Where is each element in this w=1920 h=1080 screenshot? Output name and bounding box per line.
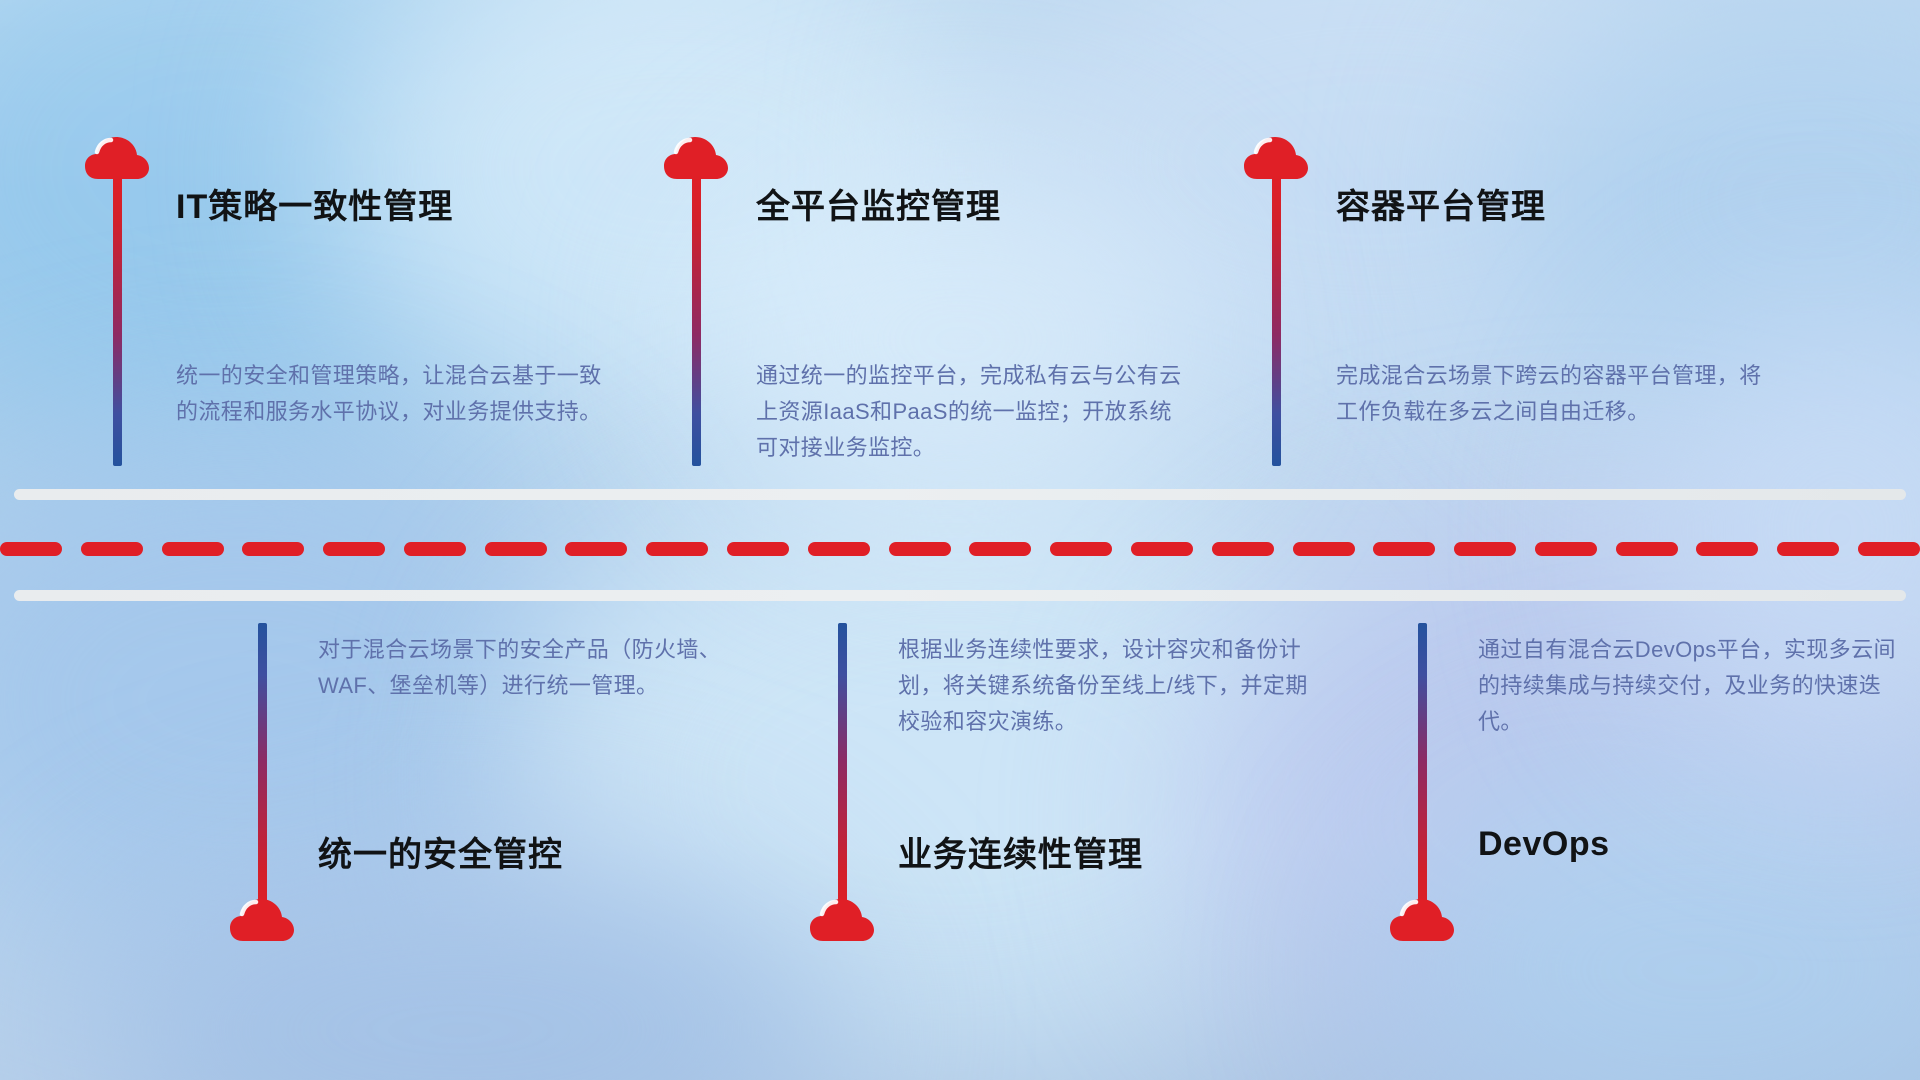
divider-dash [1777, 542, 1839, 556]
divider-dash [242, 542, 304, 556]
feature-description: 通过自有混合云DevOps平台，实现多云间的持续集成与持续交付，及业务的快速迭代… [1478, 632, 1908, 740]
stalk-line [258, 623, 267, 913]
divider-dash [1050, 542, 1112, 556]
stalk-line [1272, 174, 1281, 466]
divider-dash [646, 542, 708, 556]
stalk-line [692, 174, 701, 466]
divider-rule-top [14, 489, 1906, 500]
feature-description: 根据业务连续性要求，设计容灾和备份计划，将关键系统备份至线上/线下，并定期校验和… [898, 632, 1328, 740]
feature-title: 统一的安全管控 [318, 827, 563, 876]
feature-description: 对于混合云场景下的安全产品（防火墙、WAF、堡垒机等）进行统一管理。 [318, 632, 748, 704]
divider-dash [565, 542, 627, 556]
divider-dash [808, 542, 870, 556]
feature-description: 完成混合云场景下跨云的容器平台管理，将工作负载在多云之间自由迁移。 [1336, 358, 1766, 430]
divider-dash [727, 542, 789, 556]
divider-dash [1696, 542, 1758, 556]
stalk-line [113, 174, 122, 466]
divider-dash [1373, 542, 1435, 556]
feature-title: 业务连续性管理 [898, 827, 1143, 876]
divider-dash [81, 542, 143, 556]
divider-dash [404, 542, 466, 556]
divider-dash [1293, 542, 1355, 556]
stalk-line [838, 623, 847, 913]
feature-title: 全平台监控管理 [756, 179, 1001, 228]
stalk-line [1418, 623, 1427, 913]
divider-dash [0, 542, 62, 556]
divider-dash [323, 542, 385, 556]
feature-description: 统一的安全和管理策略，让混合云基于一致的流程和服务水平协议，对业务提供支持。 [176, 358, 606, 430]
feature-description: 通过统一的监控平台，完成私有云与公有云上资源IaaS和PaaS的统一监控；开放系… [756, 358, 1186, 466]
divider-dash [485, 542, 547, 556]
divider-dash [1212, 542, 1274, 556]
divider-dashed-rule [0, 542, 1920, 556]
feature-title: IT策略一致性管理 [176, 179, 453, 228]
divider-dash [1131, 542, 1193, 556]
divider-rule-bottom [14, 590, 1906, 601]
divider-dash [162, 542, 224, 556]
divider-dash [1858, 542, 1920, 556]
divider-dash [889, 542, 951, 556]
cloud-icon [809, 895, 875, 943]
cloud-icon [1389, 895, 1455, 943]
divider-dash [969, 542, 1031, 556]
feature-title: DevOps [1478, 825, 1610, 864]
feature-title: 容器平台管理 [1336, 179, 1546, 228]
cloud-icon [229, 895, 295, 943]
divider-dash [1616, 542, 1678, 556]
divider-dash [1454, 542, 1516, 556]
divider-dash [1535, 542, 1597, 556]
